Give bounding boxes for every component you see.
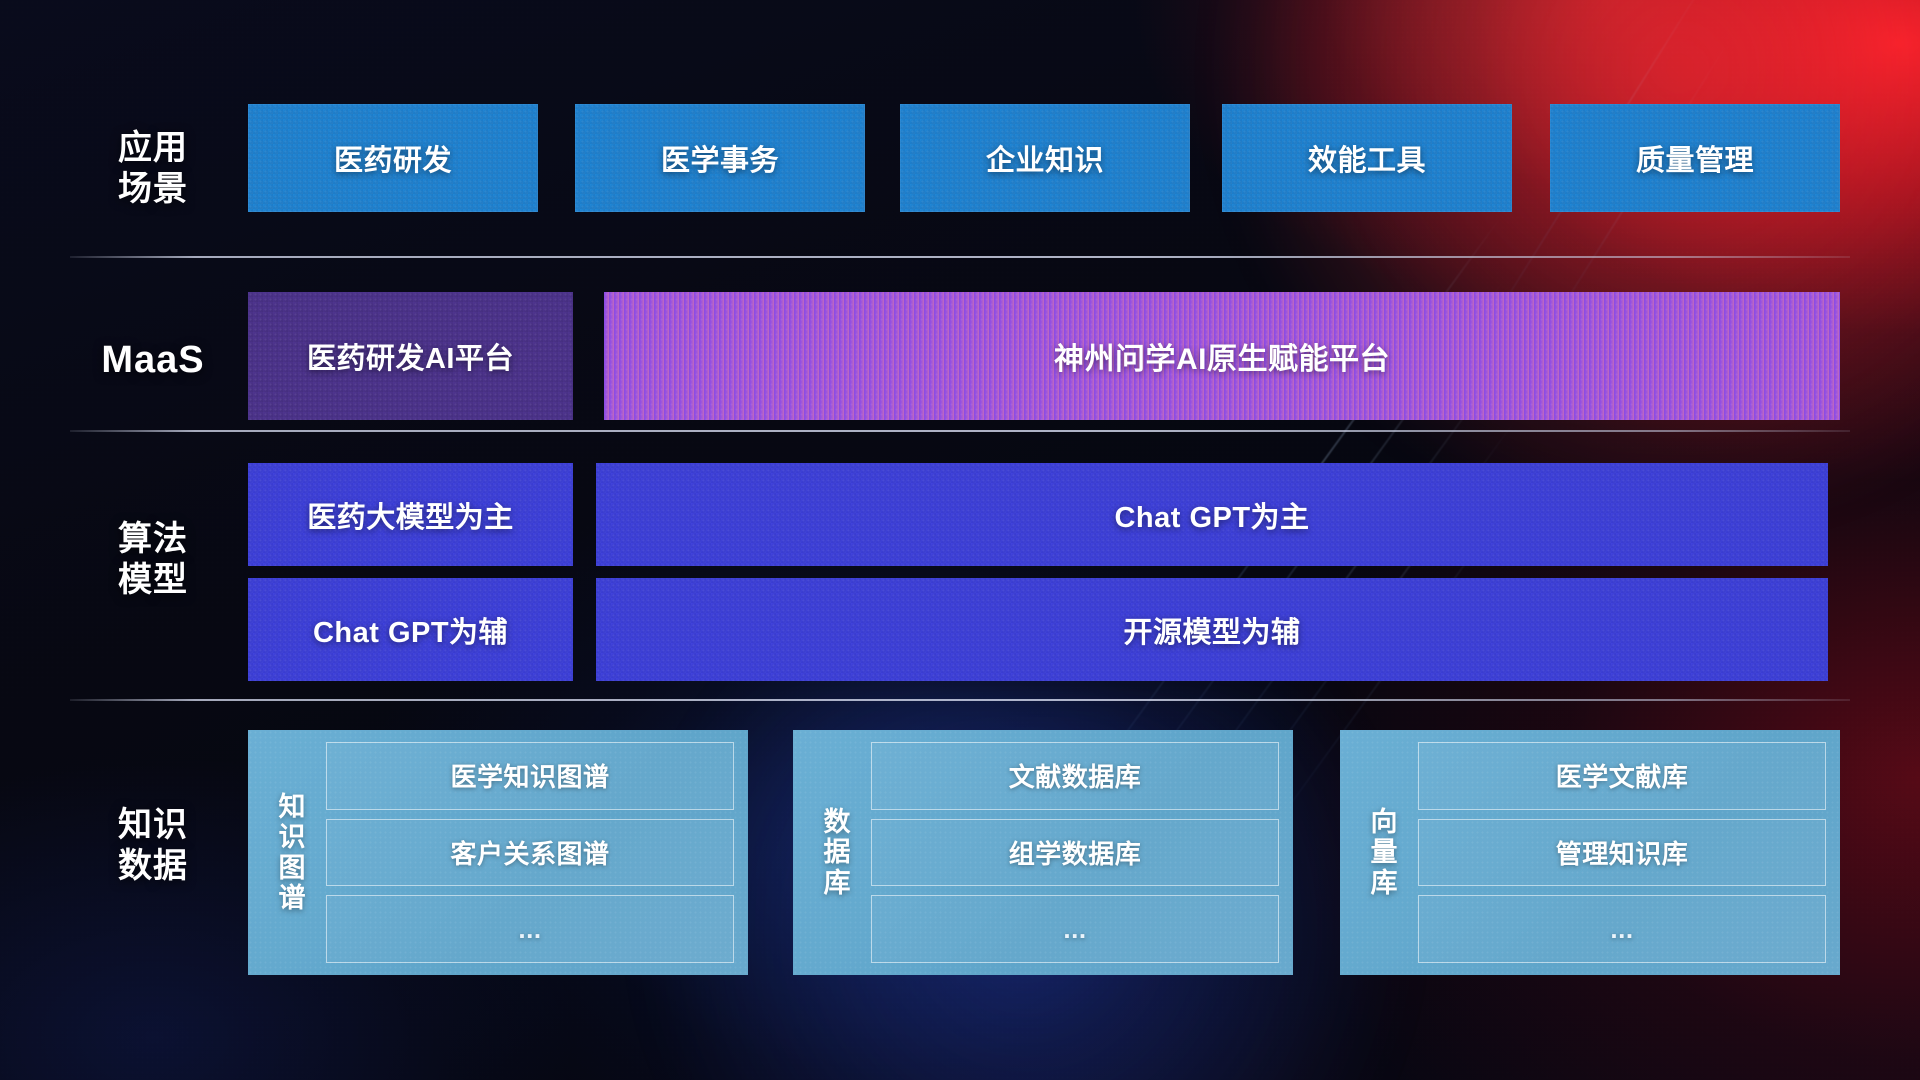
row-label-maas: MaaS [78, 337, 228, 383]
knowledge-item[interactable]: 文献数据库 [871, 742, 1279, 810]
app-cell-label: 企业知识 [986, 137, 1104, 179]
row-label-maas-text: MaaS [78, 337, 228, 383]
knowledge-group-title-char: 图 [279, 853, 306, 883]
app-cell-enterprise-knowledge[interactable]: 企业知识 [900, 104, 1190, 212]
row-label-knowledge: 知识 数据 [78, 805, 228, 888]
knowledge-group-title-char: 知 [279, 792, 306, 822]
knowledge-group-title-char: 谱 [279, 883, 306, 913]
knowledge-item-label: 医学知识图谱 [450, 757, 609, 794]
knowledge-group-title-char: 数 [824, 807, 851, 837]
row-label-algorithm-line1: 算法 [78, 519, 228, 560]
divider-maas-algorithm [70, 430, 1850, 432]
row-label-algorithm-line2: 模型 [78, 560, 228, 601]
knowledge-group-database[interactable]: 数 据 库 文献数据库 组学数据库 ... [793, 730, 1293, 975]
algo-cell-label: Chat GPT为辅 [313, 609, 508, 651]
maas-left-label: 医药研发AI平台 [307, 335, 514, 377]
algo-cell-chatgpt-primary[interactable]: Chat GPT为主 [596, 463, 1828, 566]
maas-right-label: 神州问学AI原生赋能平台 [1054, 334, 1390, 378]
knowledge-group-title-char: 库 [824, 868, 851, 898]
knowledge-group-title: 知 识 图 谱 [258, 742, 326, 963]
app-cell-label: 医药研发 [334, 137, 452, 179]
knowledge-item-label: 文献数据库 [1009, 757, 1142, 794]
knowledge-item-more[interactable]: ... [871, 895, 1279, 963]
knowledge-item-label: 组学数据库 [1009, 834, 1142, 871]
knowledge-group-title: 向 量 库 [1350, 742, 1418, 963]
knowledge-group-items: 文献数据库 组学数据库 ... [871, 742, 1279, 963]
row-label-application-line1: 应用 [78, 128, 228, 169]
algo-cell-label: Chat GPT为主 [1114, 494, 1309, 536]
knowledge-item[interactable]: 医学知识图谱 [326, 742, 734, 810]
algo-cell-medicine-llm-primary[interactable]: 医药大模型为主 [248, 463, 573, 566]
knowledge-item-label: 客户关系图谱 [450, 834, 609, 871]
knowledge-group-items: 医学文献库 管理知识库 ... [1418, 742, 1826, 963]
knowledge-group-graph[interactable]: 知 识 图 谱 医学知识图谱 客户关系图谱 ... [248, 730, 748, 975]
app-cell-medical-affairs[interactable]: 医学事务 [575, 104, 865, 212]
maas-platform-medicine-rd[interactable]: 医药研发AI平台 [248, 292, 573, 420]
knowledge-item-label: 管理知识库 [1556, 834, 1689, 871]
app-cell-label: 效能工具 [1308, 137, 1426, 179]
maas-platform-shenzhou-wenxue[interactable]: 神州问学AI原生赋能平台 [604, 292, 1840, 420]
knowledge-group-title-char: 向 [1371, 807, 1398, 837]
app-cell-medicine-rd[interactable]: 医药研发 [248, 104, 538, 212]
algo-cell-chatgpt-secondary[interactable]: Chat GPT为辅 [248, 578, 573, 681]
knowledge-item[interactable]: 管理知识库 [1418, 819, 1826, 887]
knowledge-item[interactable]: 医学文献库 [1418, 742, 1826, 810]
app-cell-label: 医学事务 [661, 137, 779, 179]
knowledge-group-title: 数 据 库 [803, 742, 871, 963]
row-label-knowledge-line2: 数据 [78, 846, 228, 887]
knowledge-group-title-char: 识 [279, 822, 306, 852]
divider-application-maas [70, 256, 1850, 258]
row-label-knowledge-line1: 知识 [78, 805, 228, 846]
knowledge-group-title-char: 据 [824, 837, 851, 867]
knowledge-item[interactable]: 组学数据库 [871, 819, 1279, 887]
row-label-application-line2: 场景 [78, 169, 228, 210]
architecture-diagram: 应用 场景 医药研发 医学事务 企业知识 效能工具 质量管理 MaaS 医药研发… [0, 0, 1920, 1080]
algo-cell-label: 医药大模型为主 [307, 494, 514, 536]
knowledge-item-more[interactable]: ... [1418, 895, 1826, 963]
app-cell-label: 质量管理 [1636, 137, 1754, 179]
algo-cell-opensource-secondary[interactable]: 开源模型为辅 [596, 578, 1828, 681]
knowledge-group-items: 医学知识图谱 客户关系图谱 ... [326, 742, 734, 963]
knowledge-item-more[interactable]: ... [326, 895, 734, 963]
app-cell-efficiency-tools[interactable]: 效能工具 [1222, 104, 1512, 212]
knowledge-group-vector[interactable]: 向 量 库 医学文献库 管理知识库 ... [1340, 730, 1840, 975]
knowledge-group-title-char: 库 [1371, 868, 1398, 898]
knowledge-item-label: 医学文献库 [1556, 757, 1689, 794]
knowledge-item[interactable]: 客户关系图谱 [326, 819, 734, 887]
row-label-algorithm: 算法 模型 [78, 519, 228, 602]
knowledge-item-label: ... [1610, 914, 1633, 945]
knowledge-item-label: ... [518, 914, 541, 945]
algo-cell-label: 开源模型为辅 [1123, 609, 1300, 651]
knowledge-group-title-char: 量 [1371, 837, 1398, 867]
divider-algorithm-knowledge [70, 699, 1850, 701]
app-cell-quality-management[interactable]: 质量管理 [1550, 104, 1840, 212]
knowledge-item-label: ... [1063, 914, 1086, 945]
row-label-application: 应用 场景 [78, 128, 228, 211]
